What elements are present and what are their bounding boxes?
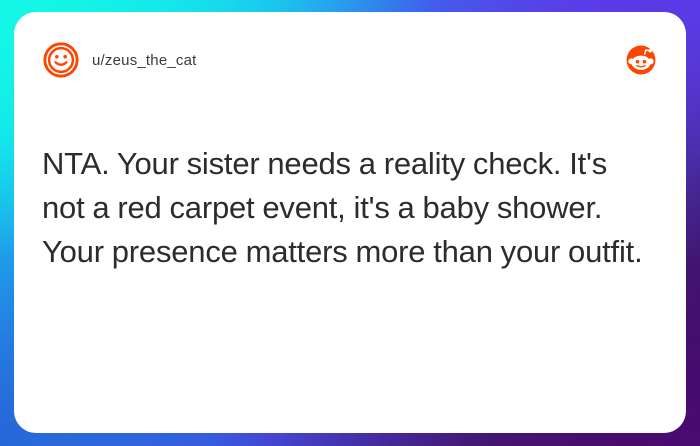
comment-text: NTA. Your sister needs a reality check. … (42, 142, 647, 274)
screenshot-root: u/zeus_the_cat (0, 0, 700, 446)
author-block[interactable]: u/zeus_the_cat (42, 41, 197, 79)
card-body: NTA. Your sister needs a reality check. … (42, 82, 658, 433)
card-header: u/zeus_the_cat (42, 38, 658, 82)
reddit-comment-card: u/zeus_the_cat (14, 12, 686, 433)
author-username: u/zeus_the_cat (92, 53, 197, 68)
reddit-snoo-icon[interactable] (624, 43, 658, 77)
smiley-face-icon (42, 41, 80, 79)
